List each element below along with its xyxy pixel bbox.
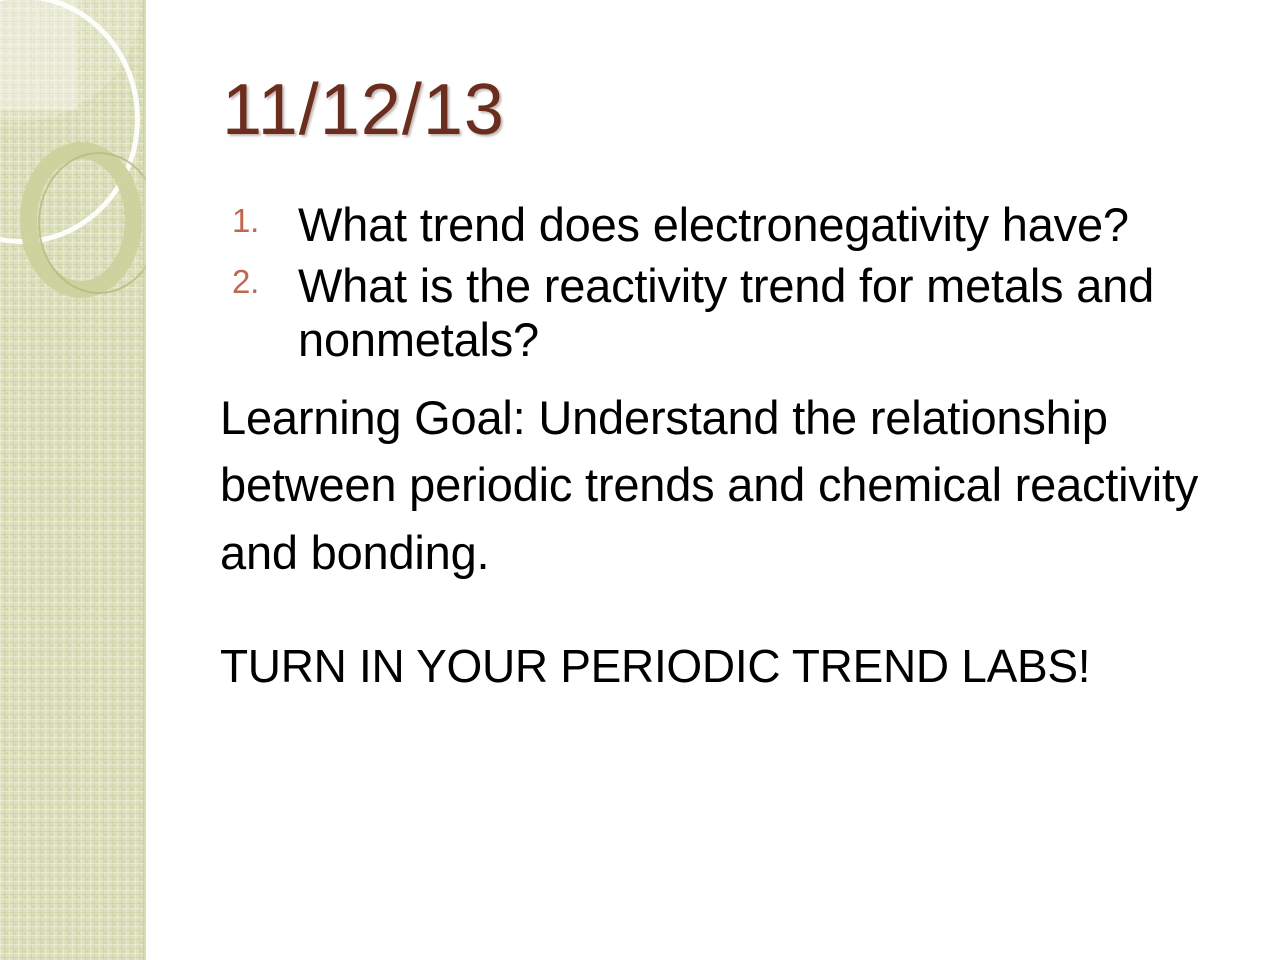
question-list: 1. What trend does electronegativity hav… xyxy=(220,198,1242,368)
list-item-number: 1. xyxy=(232,204,259,237)
decorative-sidebar xyxy=(0,0,146,960)
slide-canvas: 11/12/13 1. What trend does electronegat… xyxy=(0,0,1280,960)
blank-line-spacer xyxy=(220,587,1242,639)
slide-content: 11/12/13 1. What trend does electronegat… xyxy=(146,0,1280,960)
announcement-text: TURN IN YOUR PERIODIC TREND LABS! xyxy=(220,639,1242,694)
slide-body: 1. What trend does electronegativity hav… xyxy=(220,198,1242,694)
learning-goal-text: Learning Goal: Understand the relationsh… xyxy=(220,384,1230,587)
list-item-text: What is the reactivity trend for metals … xyxy=(298,259,1154,367)
list-item-number: 2. xyxy=(232,265,259,298)
list-item: 2. What is the reactivity trend for meta… xyxy=(220,259,1242,368)
list-item: 1. What trend does electronegativity hav… xyxy=(220,198,1242,253)
list-item-text: What trend does electronegativity have? xyxy=(298,198,1129,251)
page-title: 11/12/13 xyxy=(222,74,505,146)
